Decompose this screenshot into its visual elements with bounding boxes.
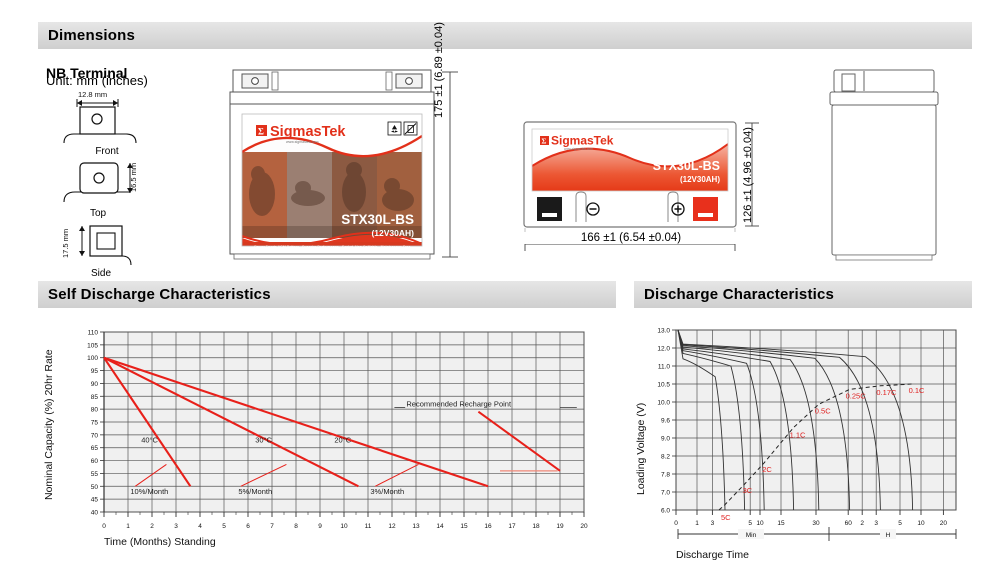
x-tick: 17 (508, 523, 516, 530)
y-tick: 95 (91, 368, 99, 375)
terminal-width-label: 12.8 mm (78, 90, 107, 99)
svg-text:SigmasTek: SigmasTek (551, 134, 614, 148)
battery-front-view: Σ SigmasTek www.sigmastek.com STX30L-BS … (228, 66, 478, 266)
y-tick: 110 (88, 330, 99, 337)
discharge-group-hour: H (886, 532, 891, 539)
x-tick: 20 (940, 520, 948, 527)
y-tick: 60 (91, 458, 99, 465)
x-tick: 60 (845, 520, 853, 527)
svg-text:Σ: Σ (542, 137, 547, 146)
battery-side-model: STX30L-BS (653, 159, 720, 173)
section-header-self-discharge: Self Discharge Characteristics (38, 281, 616, 308)
terminal-negative-block (537, 197, 562, 221)
discharge-axis-groups (678, 527, 956, 541)
curve-label: 1.1C (790, 431, 806, 440)
terminal-view-front-label: Front (42, 146, 172, 157)
curve-label: 5C (721, 513, 731, 522)
y-tick: 80 (91, 407, 99, 414)
x-tick: 19 (556, 523, 564, 530)
chart-annotation: 5%/Month (238, 487, 272, 496)
chart-annotation: 20°C (334, 436, 351, 445)
battery-front-model: STX30L-BS (341, 212, 414, 227)
x-tick: 18 (532, 523, 540, 530)
x-tick: 16 (484, 523, 492, 530)
section-header-dimensions: Dimensions (38, 22, 972, 49)
battery-rear-view (824, 66, 944, 266)
discharge-group-min: Min (746, 532, 757, 539)
self-discharge-xlabel: Time (Months) Standing (104, 536, 216, 548)
y-tick: 50 (91, 484, 99, 491)
svg-text:Σ: Σ (258, 126, 264, 136)
y-tick: 45 (91, 497, 99, 504)
terminal-view-top-label: Top (48, 208, 148, 219)
curve-label: 0.1C (909, 386, 925, 395)
self-discharge-ylabel: Nominal Capacity (%) 20hr Rate (43, 349, 55, 500)
x-tick: 14 (436, 523, 444, 530)
y-tick: 105 (87, 342, 98, 349)
y-tick: 12.0 (657, 346, 670, 353)
svg-text:www.sigmastek.com: www.sigmastek.com (286, 140, 319, 144)
recycle-icon (388, 122, 401, 135)
y-tick: 75 (91, 420, 99, 427)
y-tick: 90 (91, 381, 99, 388)
x-tick: 15 (777, 520, 785, 527)
terminal-view-side-label: Side (46, 268, 156, 279)
y-tick: 85 (91, 394, 99, 401)
section-header-discharge-wrap: Discharge Characteristics (634, 281, 972, 308)
discharge-ylabel: Loading Voltage (V) (635, 403, 647, 495)
x-tick: 6 (246, 523, 250, 530)
dimensions-section: Dimensions (38, 22, 972, 49)
x-tick: 1 (126, 523, 130, 530)
curve-label: 0.5C (815, 406, 831, 415)
discharge-chart: 13.012.011.010.510.09.69.08.27.87.06.0 0… (630, 320, 990, 570)
x-tick: 15 (460, 523, 468, 530)
y-tick: 10.0 (657, 400, 670, 407)
y-tick: 11.0 (658, 364, 671, 371)
x-tick: 12 (388, 523, 396, 530)
terminal-top-figure: 16.5 mm Top (60, 158, 190, 219)
battery-front-tagline: • Power Sports AGM Battery • Superior Pe… (252, 245, 410, 249)
y-tick: 40 (91, 510, 99, 517)
x-tick: 2 (150, 523, 154, 530)
curve-label: 3C (743, 486, 753, 495)
x-tick: 5 (898, 520, 902, 527)
curve-label: 0.25C (846, 391, 867, 400)
y-tick: 55 (91, 471, 99, 478)
y-tick: 9.0 (661, 436, 670, 443)
y-tick: 13.0 (657, 328, 670, 335)
terminal-side-figure: 17.5 mm Side (60, 222, 190, 279)
no-trash-icon (404, 122, 417, 135)
y-tick: 8.2 (661, 454, 670, 461)
chart-annotation: 40°C (141, 436, 158, 445)
battery-side-view: Σ SigmasTek www.sigmastek.com STX30L-BS … (520, 118, 820, 258)
x-tick: 7 (270, 523, 274, 530)
x-tick: 0 (102, 523, 106, 530)
battery-length-dimension: 166 ±1 (6.54 ±0.04) (520, 232, 742, 244)
curve-label: 2C (762, 465, 772, 474)
self-discharge-chart: 404550556065707580859095100105110 012345… (36, 320, 616, 550)
section-header-discharge: Discharge Characteristics (634, 281, 972, 308)
svg-text:www.sigmastek.com: www.sigmastek.com (564, 147, 593, 151)
unit-label: Unit: mm (inches) (46, 73, 148, 88)
y-tick: 100 (87, 355, 98, 362)
x-tick: 3 (711, 520, 715, 527)
chart-annotation: 3%/Month (370, 487, 404, 496)
y-tick: 65 (91, 445, 99, 452)
discharge-xlabel: Discharge Time (676, 549, 749, 561)
y-tick: 7.0 (661, 490, 670, 497)
x-tick: 5 (748, 520, 752, 527)
y-tick: 6.0 (661, 508, 670, 515)
battery-height-dimension: 175 ±1 (6.89 ±0.04) (433, 118, 529, 130)
battery-front-spec: (12V30AH) (371, 228, 414, 238)
y-tick: 70 (91, 432, 99, 439)
chart-annotation: 30°C (255, 436, 272, 445)
x-tick: 5 (222, 523, 226, 530)
x-tick: 0 (674, 520, 678, 527)
section-header-self-discharge-wrap: Self Discharge Characteristics (38, 281, 616, 308)
x-tick: 10 (917, 520, 925, 527)
x-tick: 20 (580, 523, 588, 530)
x-tick: 9 (318, 523, 322, 530)
x-tick: 10 (756, 520, 764, 527)
terminal-positive-block (693, 197, 718, 221)
y-tick: 7.8 (661, 472, 670, 479)
terminal-side-height-label: 17.5 mm (61, 229, 70, 258)
x-tick: 3 (874, 520, 878, 527)
x-tick: 4 (198, 523, 202, 530)
terminal-top-height-label: 16.5 mm (129, 163, 138, 192)
battery-side-spec: (12V30AH) (680, 175, 720, 184)
y-tick: 10.5 (657, 382, 670, 389)
x-tick: 30 (812, 520, 820, 527)
x-tick: 1 (695, 520, 699, 527)
curve-label: 0.17C (876, 388, 897, 397)
x-tick: 11 (365, 523, 372, 530)
x-tick: 10 (340, 523, 348, 530)
x-tick: 8 (294, 523, 298, 530)
x-tick: 3 (174, 523, 178, 530)
terminal-front-figure: 12.8 mm Front (60, 88, 190, 157)
x-tick: 2 (860, 520, 864, 527)
chart-annotation: Recommended Recharge Point (406, 400, 512, 409)
y-tick: 9.6 (661, 418, 670, 425)
svg-text:SigmasTek: SigmasTek (270, 124, 346, 140)
x-tick: 13 (412, 523, 420, 530)
chart-annotation: 10%/Month (130, 487, 168, 496)
